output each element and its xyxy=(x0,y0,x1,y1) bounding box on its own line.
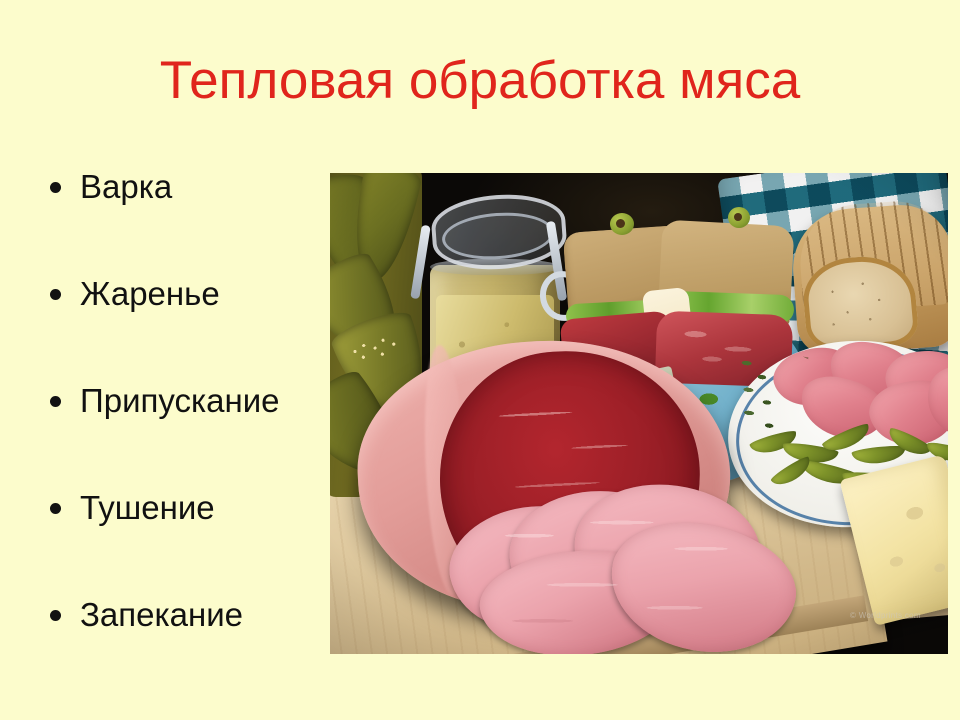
list-item: Жаренье xyxy=(50,275,335,382)
bullet-dot-icon xyxy=(50,182,61,193)
meat-platter-photo: © Worldprints.com xyxy=(330,173,948,654)
page-title: Тепловая обработка мяса xyxy=(0,52,960,110)
thyme-sprig xyxy=(724,349,809,444)
list-item-label: Запекание xyxy=(80,596,243,634)
list-item-label: Тушение xyxy=(80,489,215,527)
bullet-dot-icon xyxy=(50,289,61,300)
bullet-dot-icon xyxy=(50,503,61,514)
list-item-label: Припускание xyxy=(80,382,280,420)
slide: Тепловая обработка мяса Варка Жаренье Пр… xyxy=(0,0,960,720)
list-item-label: Жаренье xyxy=(80,275,220,313)
olive-pimento xyxy=(616,219,625,228)
list-item-label: Варка xyxy=(80,168,172,206)
cooking-methods-list: Варка Жаренье Припускание Тушение Запека… xyxy=(50,168,335,703)
list-item: Варка xyxy=(50,168,335,275)
bullet-dot-icon xyxy=(50,396,61,407)
olive-pimento xyxy=(734,213,742,221)
photo-watermark: © Worldprints.com xyxy=(850,611,921,620)
list-item: Тушение xyxy=(50,489,335,596)
bullet-dot-icon xyxy=(50,610,61,621)
list-item: Запекание xyxy=(50,596,335,703)
list-item: Припускание xyxy=(50,382,335,489)
